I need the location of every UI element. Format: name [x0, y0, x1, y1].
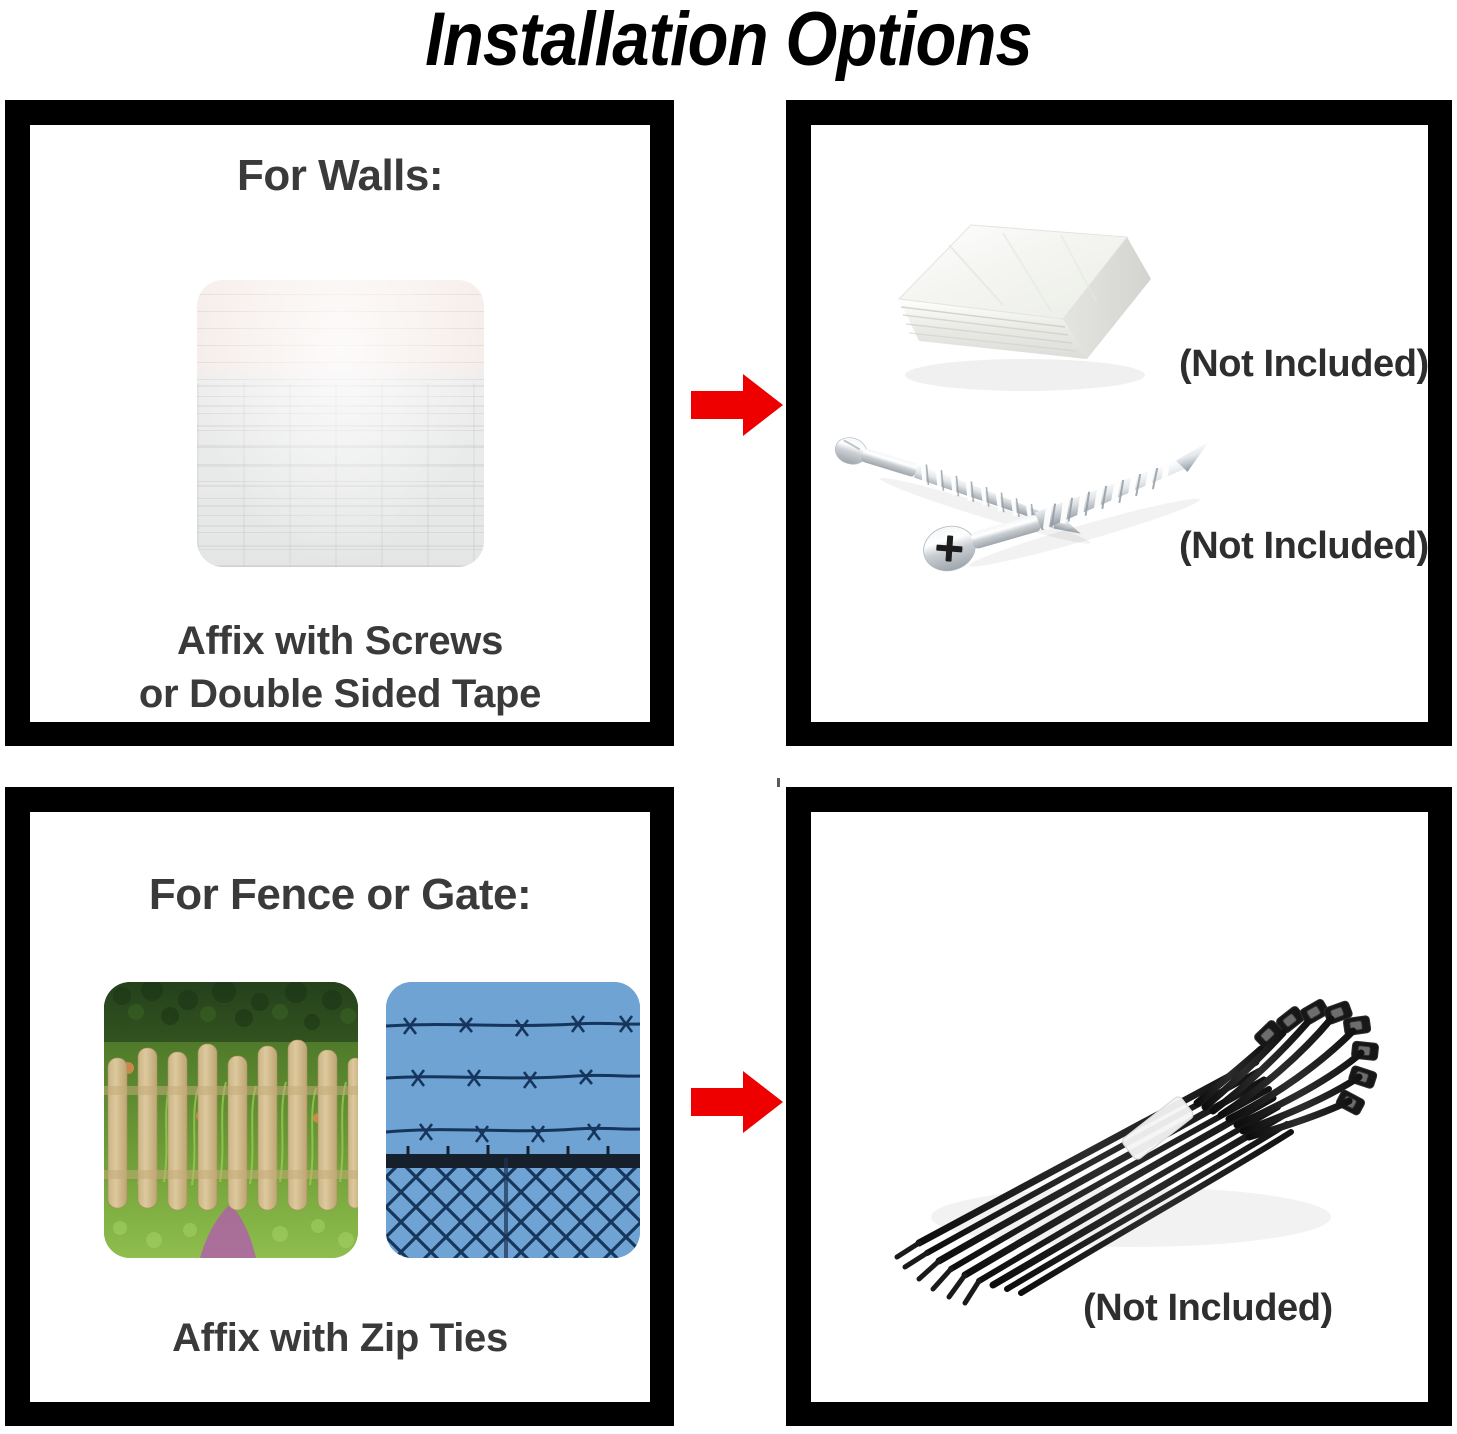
page-title: Installation Options [87, 0, 1369, 83]
white-brick-wall-thumbnail [197, 280, 484, 567]
brick-highlight [197, 280, 484, 567]
infographic-root: Installation Options For Walls: Affix wi… [0, 0, 1457, 1434]
fence-heading: For Fence or Gate: [30, 870, 650, 920]
barbed-wire-chain-link-art [386, 982, 640, 1258]
panel-for-walls-inner: For Walls: Affix with Screws or Double S… [30, 125, 650, 722]
panel-zip-ties: (Not Included) [786, 787, 1452, 1426]
screw-not-included-label: (Not Included) [1179, 525, 1428, 568]
panel-zip-ties-inner: (Not Included) [811, 812, 1428, 1402]
picket-fence-art [104, 982, 358, 1258]
fence-caption: Affix with Zip Ties [30, 1312, 650, 1365]
wooden-picket-fence-thumbnail [104, 982, 358, 1258]
panel-for-fence-or-gate: For Fence or Gate: [5, 787, 674, 1426]
walls-caption-line-1: Affix with Screws [30, 615, 650, 668]
barbed-wire-chain-link-thumbnail [386, 982, 640, 1258]
panel-wall-hardware-inner: (Not Included) [811, 125, 1428, 722]
ziptie-not-included-label: (Not Included) [1083, 1287, 1333, 1330]
panel-for-fence-or-gate-inner: For Fence or Gate: [30, 812, 650, 1402]
double-sided-tape-stack-image [875, 207, 1165, 407]
scan-artifact-dot [777, 778, 780, 787]
arrow-right-icon-walls [691, 374, 783, 436]
walls-caption-line-2: or Double Sided Tape [30, 668, 650, 721]
panel-wall-hardware: (Not Included) [786, 100, 1452, 746]
panel-for-walls: For Walls: Affix with Screws or Double S… [5, 100, 674, 746]
wood-screws-image [833, 415, 1213, 645]
walls-caption: Affix with Screws or Double Sided Tape [30, 615, 650, 721]
zip-tie-bundle-image [861, 917, 1401, 1317]
tape-not-included-label: (Not Included) [1179, 343, 1428, 386]
arrow-right-icon-fence [691, 1071, 783, 1133]
walls-heading: For Walls: [30, 151, 650, 201]
